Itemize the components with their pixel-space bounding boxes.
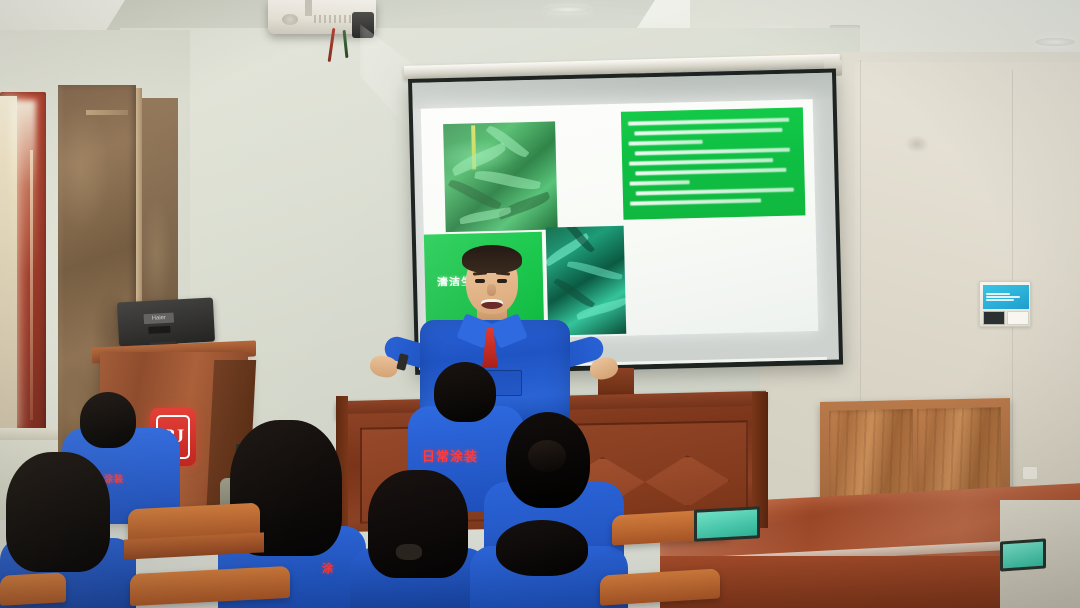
attendee-front-third bbox=[350, 470, 490, 608]
monitor-brand-label: Haier bbox=[144, 313, 174, 325]
window-mullion bbox=[30, 150, 33, 420]
eye-left bbox=[475, 279, 485, 283]
pilaster-band bbox=[86, 110, 128, 115]
wall-outlet bbox=[1022, 466, 1038, 480]
projector-lens bbox=[352, 12, 374, 38]
monitor-port bbox=[148, 326, 170, 334]
podium-monitor[interactable]: Haier bbox=[117, 298, 215, 347]
cabinet-door-right[interactable] bbox=[917, 407, 1001, 501]
hair-bun bbox=[528, 440, 566, 472]
uniform-back-text: 日常涂装 bbox=[422, 446, 478, 465]
conference-room-photo: 清洁生产措施 bbox=[0, 0, 1080, 608]
mouth bbox=[481, 299, 503, 309]
auditorium-chair[interactable] bbox=[0, 572, 66, 605]
attendee-hair bbox=[368, 470, 468, 578]
projector-mount bbox=[305, 0, 312, 16]
panel-switch-light[interactable] bbox=[1007, 311, 1029, 325]
wall-mark bbox=[905, 135, 929, 153]
cabinet-door-left[interactable] bbox=[829, 409, 913, 503]
panel-switch-dark[interactable] bbox=[983, 311, 1005, 325]
hair-tie bbox=[396, 544, 422, 560]
attendee-hair bbox=[496, 520, 588, 576]
attendee-hair bbox=[6, 452, 110, 572]
uniform-back-text: 涂 bbox=[322, 560, 334, 576]
hvac-control-panel[interactable] bbox=[979, 281, 1031, 327]
nose bbox=[487, 284, 496, 296]
laptop-screen[interactable] bbox=[1000, 538, 1046, 571]
downlight-icon bbox=[545, 6, 591, 13]
downlight-icon bbox=[1035, 38, 1075, 46]
slide-text-block bbox=[621, 107, 806, 219]
panel-lcd-display bbox=[983, 285, 1029, 309]
laptop-screen[interactable] bbox=[694, 506, 760, 541]
attendee-hair bbox=[80, 392, 136, 448]
presenter-hair bbox=[462, 245, 522, 273]
slide-image-left bbox=[443, 121, 558, 232]
projector-vent bbox=[314, 15, 356, 23]
eye-right bbox=[497, 279, 507, 283]
